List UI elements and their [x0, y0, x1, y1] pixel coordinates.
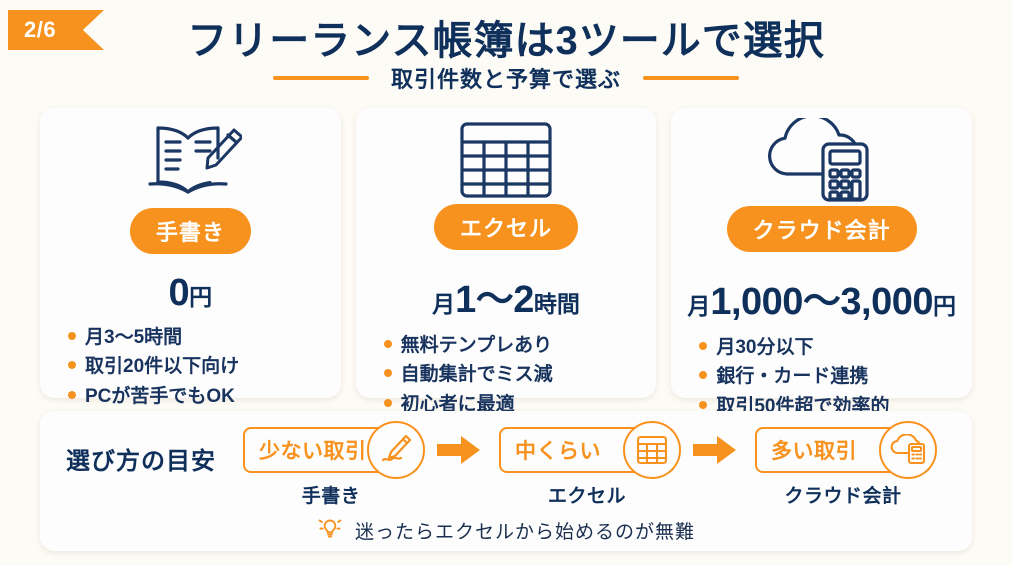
right-arrow-icon — [692, 427, 738, 473]
card-handwriting: 手書き 0 円 月3〜5時間 取引20件以下向け PCが苦手でもOK — [40, 108, 341, 398]
flow-step-excel: 中くらい エクセル — [494, 427, 680, 508]
price-main: 0 — [169, 272, 190, 315]
list-item: 自動集計でミス減 — [384, 360, 643, 389]
right-arrow-icon — [436, 427, 482, 473]
page-title: フリーランス帳簿は3ツールで選択 — [0, 8, 1012, 66]
flow-title: 選び方の目安 — [58, 427, 226, 476]
card-price: 0 円 — [169, 272, 213, 315]
cloud-calculator-icon — [761, 118, 883, 204]
price-suffix: 円 — [933, 287, 956, 321]
list-item: 月30分以下 — [699, 333, 958, 362]
page-subtitle: 取引件数と予算で選ぶ — [391, 62, 621, 94]
bullet-dot-icon — [68, 332, 76, 340]
list-item: 無料テンプレあり — [384, 331, 643, 360]
bullet-text: PCが苦手でもOK — [85, 382, 235, 411]
bullet-dot-icon — [699, 401, 707, 409]
card-price: 月 1〜2 時間 — [432, 268, 580, 323]
card-chip-label: 手書き — [130, 208, 251, 254]
hint-row: 迷ったらエクセルから始めるのが無難 — [40, 515, 972, 546]
flow-step-cloud: 多い取引 クラウド会計 — [750, 427, 936, 508]
bullet-text: 月30分以下 — [716, 333, 813, 362]
price-suffix: 時間 — [534, 285, 580, 319]
card-bullets: 無料テンプレあり 自動集計でミス減 初心者に最適 — [370, 331, 643, 419]
subtitle-row: 取引件数と予算で選ぶ — [0, 62, 1012, 94]
list-item: PCが苦手でもOK — [68, 382, 327, 411]
list-item: 取引20件以下向け — [68, 352, 327, 381]
bullet-dot-icon — [68, 391, 76, 399]
bullet-text: 無料テンプレあり — [401, 331, 552, 360]
bullet-dot-icon — [384, 340, 392, 348]
flow-step-label: 少ない取引 — [259, 435, 367, 465]
card-cloud-accounting: クラウド会計 月 1,000〜3,000 円 月30分以下 銀行・カード連携 取… — [671, 108, 972, 398]
flow-step-box: 多い取引 — [755, 427, 931, 473]
spreadsheet-icon — [623, 421, 681, 479]
bullet-dot-icon — [699, 371, 707, 379]
price-prefix: 月 — [432, 285, 455, 319]
list-item: 銀行・カード連携 — [699, 362, 958, 391]
infographic-slide: 2/6 フリーランス帳簿は3ツールで選択 取引件数と予算で選ぶ — [0, 0, 1012, 566]
bullet-dot-icon — [384, 369, 392, 377]
flow-step-box: 中くらい — [499, 427, 675, 473]
flow-step-name: クラウド会計 — [784, 481, 901, 508]
subtitle-rule-left — [273, 76, 369, 80]
card-price: 月 1,000〜3,000 円 — [687, 270, 956, 325]
flow-diagram: 選び方の目安 少ない取引 手書き — [58, 427, 936, 508]
flow-step-name: 手書き — [302, 481, 361, 508]
price-main: 1〜2 — [455, 268, 534, 323]
flow-step-handwriting: 少ない取引 手書き — [238, 427, 424, 508]
flow-step-name: エクセル — [548, 481, 626, 508]
bullet-dot-icon — [699, 342, 707, 350]
bullet-text: 月3〜5時間 — [85, 323, 182, 352]
bullet-dot-icon — [384, 399, 392, 407]
flow-step-label: 中くらい — [515, 435, 601, 465]
hand-writing-icon — [367, 421, 425, 479]
flow-step-label: 多い取引 — [771, 435, 857, 465]
hint-text: 迷ったらエクセルから始めるのが無難 — [355, 517, 695, 544]
list-item: 月3〜5時間 — [68, 323, 327, 352]
cloud-calculator-icon — [879, 421, 937, 479]
bullet-text: 自動集計でミス減 — [401, 360, 553, 389]
flow-step-box: 少ない取引 — [243, 427, 419, 473]
comparison-cards: 手書き 0 円 月3〜5時間 取引20件以下向け PCが苦手でもOK — [40, 108, 972, 398]
bullet-dot-icon — [68, 361, 76, 369]
subtitle-rule-right — [643, 76, 739, 80]
guidance-panel: 選び方の目安 少ない取引 手書き — [40, 411, 972, 551]
card-excel: エクセル 月 1〜2 時間 無料テンプレあり 自動集計でミス減 初心者に最適 — [356, 108, 657, 398]
bullet-text: 銀行・カード連携 — [716, 362, 868, 391]
open-book-pencil-icon — [138, 118, 242, 206]
price-main: 1,000〜3,000 — [710, 270, 933, 325]
card-chip-label: エクセル — [434, 204, 578, 250]
price-suffix: 円 — [189, 278, 212, 312]
spreadsheet-icon — [456, 118, 556, 202]
card-chip-label: クラウド会計 — [727, 206, 917, 252]
card-bullets: 月3〜5時間 取引20件以下向け PCが苦手でもOK — [54, 323, 327, 411]
bullet-text: 取引20件以下向け — [85, 352, 239, 381]
card-bullets: 月30分以下 銀行・カード連携 取引50件超で効率的 — [685, 333, 958, 421]
price-prefix: 月 — [687, 287, 710, 321]
lightbulb-icon — [317, 515, 343, 546]
